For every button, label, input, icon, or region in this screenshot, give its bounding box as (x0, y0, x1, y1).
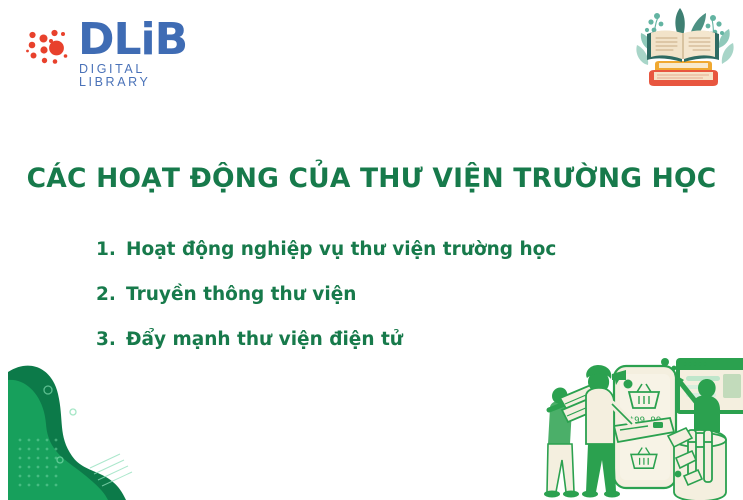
list-item: 1. Hoạt động nghiệp vụ thư viện trường h… (96, 238, 656, 262)
open-book (647, 31, 719, 63)
list-item-label: Đẩy mạnh thư viện điện tử (126, 328, 656, 352)
green-blob-decoration (0, 350, 170, 500)
open-book-with-leaves-illustration (627, 2, 739, 94)
dlib-logo[interactable]: DLiB DIGITAL LIBRARY (26, 18, 196, 80)
book-stack-middle (655, 61, 712, 70)
online-shopping-people-illustration: $99.99 (528, 352, 743, 500)
book-stack-bottom (649, 70, 718, 86)
list-item-number: 3. (96, 328, 126, 352)
list-item: 3. Đẩy mạnh thư viện điện tử (96, 328, 656, 352)
list-item: 2. Truyền thông thư viện (96, 283, 656, 307)
list-item-label: Hoạt động nghiệp vụ thư viện trường học (126, 238, 656, 262)
logo-tagline: DIGITAL LIBRARY (79, 63, 196, 89)
list-item-label: Truyền thông thư viện (126, 283, 656, 307)
list-item-number: 1. (96, 238, 126, 262)
slide-root: DLiB DIGITAL LIBRARY (0, 0, 743, 500)
logo-dot-cluster-icon (26, 22, 74, 70)
page-title: CÁC HOẠT ĐỘNG CỦA THƯ VIỆN TRƯỜNG HỌC (0, 163, 743, 194)
logo-wordmark: DLiB (78, 18, 196, 62)
list-item-number: 2. (96, 283, 126, 307)
